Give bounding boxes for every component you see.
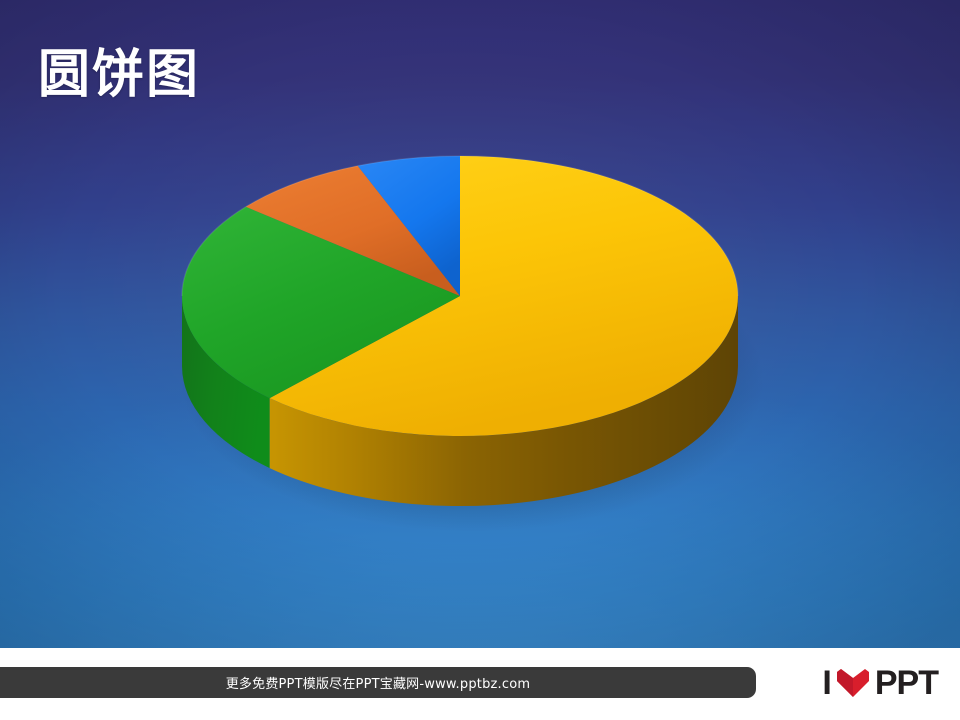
logo-suffix: PPT	[875, 666, 938, 700]
footer: 更多免费PPT模版尽在PPT宝藏网-www.pptbz.com I PPT	[0, 648, 960, 720]
footer-promo-text: 更多免费PPT模版尽在PPT宝藏网-www.pptbz.com	[0, 667, 756, 698]
brand-logo: I PPT	[822, 662, 938, 704]
pie-chart	[150, 140, 790, 570]
footer-promo-bar: 更多免费PPT模版尽在PPT宝藏网-www.pptbz.com	[0, 667, 756, 698]
page-title: 圆饼图	[38, 48, 200, 103]
heart-icon	[836, 668, 870, 698]
logo-prefix: I	[822, 666, 830, 700]
slide-canvas: 圆饼图	[0, 0, 960, 720]
pie-chart-svg	[150, 140, 790, 570]
